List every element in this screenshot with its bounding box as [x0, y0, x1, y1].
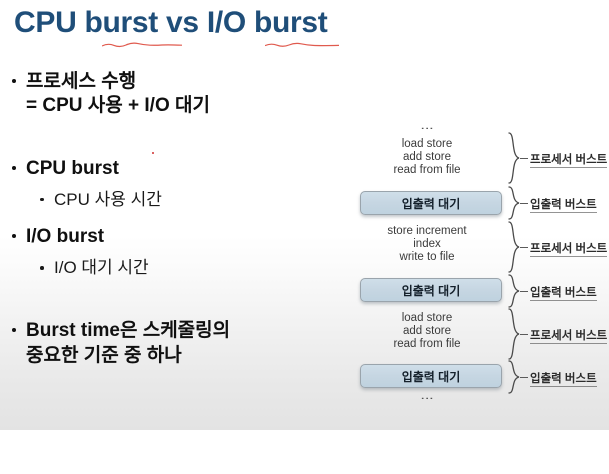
bullet-line-2: = CPU 사용 + I/O 대기	[26, 95, 210, 116]
bullet-io-burst-sub: I/O 대기 시간	[8, 257, 328, 279]
bullet-label: CPU 사용 시간	[54, 190, 162, 209]
segment-label-4: 입출력 버스트	[530, 284, 597, 300]
bullet-line-2: 중요한 기준 중 하나	[26, 345, 182, 366]
slide-canvas: CPU burst vs I/O burst 프로세스 수행 = CPU 사용 …	[0, 0, 609, 430]
red-dot-mark	[152, 152, 154, 154]
code-line: store increment	[352, 225, 502, 238]
bullet-cpu-burst: CPU burst	[8, 157, 328, 181]
code-line: load store	[352, 312, 502, 325]
burst-sequence-diagram: ⋮ load store add store read from file 프로…	[330, 126, 605, 426]
bullet-cpu-burst-sub: CPU 사용 시간	[8, 189, 328, 211]
code-block-1: load store add store read from file	[352, 138, 502, 176]
code-line: write to file	[352, 251, 502, 264]
code-block-2: store increment index write to file	[352, 225, 502, 263]
brace-tick-5	[520, 334, 528, 335]
bullet-label: I/O burst	[26, 226, 104, 247]
squiggle-underline-burst-1	[102, 42, 182, 47]
brace-tick-4	[520, 291, 528, 292]
bullet-label: CPU burst	[26, 158, 119, 179]
bottom-ellipsis: ⋮	[352, 394, 502, 404]
io-wait-label: 입출력 대기	[402, 282, 461, 299]
bullet-io-burst: I/O burst	[8, 225, 328, 249]
brace-tick-6	[520, 377, 528, 378]
bullet-process-execution: 프로세스 수행 = CPU 사용 + I/O 대기	[8, 70, 328, 119]
brace-tick-1	[520, 158, 528, 159]
io-wait-label: 입출력 대기	[402, 195, 461, 212]
page-title: CPU burst vs I/O burst	[14, 6, 327, 39]
code-line: read from file	[352, 164, 502, 177]
brace-tick-3	[520, 247, 528, 248]
bullet-label: I/O 대기 시간	[54, 258, 149, 277]
brace-tick-2	[520, 203, 528, 204]
io-wait-box-2: 입출력 대기	[360, 278, 502, 302]
code-line: add store	[352, 151, 502, 164]
title-area: CPU burst vs I/O burst	[14, 6, 327, 39]
bullet-line-1: Burst time은 스케줄링의	[26, 320, 230, 341]
code-line: index	[352, 238, 502, 251]
segment-label-3: 프로세서 버스트	[530, 240, 607, 256]
io-wait-box-1: 입출력 대기	[360, 191, 502, 215]
segment-label-1: 프로세서 버스트	[530, 151, 607, 167]
bullet-burst-time-criteria: Burst time은 스케줄링의 중요한 기준 중 하나	[8, 319, 328, 368]
segment-label-2: 입출력 버스트	[530, 196, 597, 212]
bullet-list: 프로세스 수행 = CPU 사용 + I/O 대기 CPU burst CPU …	[8, 70, 328, 368]
code-line: load store	[352, 138, 502, 151]
bullet-line-1: 프로세스 수행	[26, 71, 136, 92]
squiggle-underline-burst-2	[265, 42, 339, 47]
top-ellipsis: ⋮	[352, 124, 502, 134]
segment-label-6: 입출력 버스트	[530, 370, 597, 386]
segment-label-5: 프로세서 버스트	[530, 327, 607, 343]
